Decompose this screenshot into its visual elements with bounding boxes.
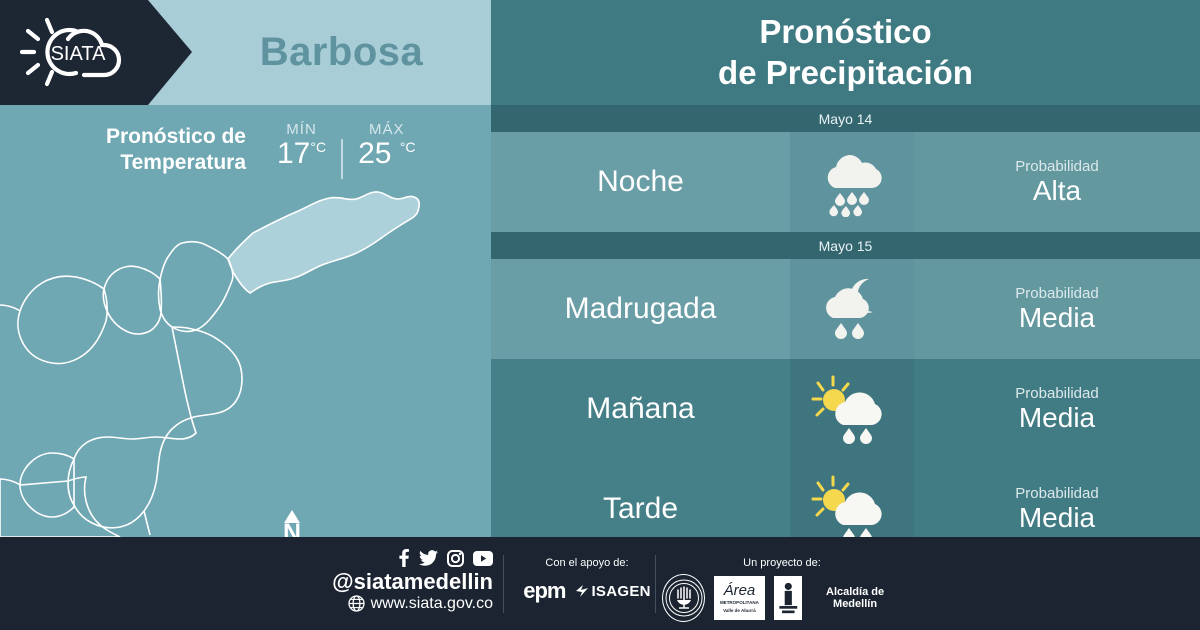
probability-value: Media — [1019, 503, 1095, 532]
area-logo-name: Área — [724, 583, 756, 598]
siata-logo-text: SIATA — [51, 43, 106, 65]
social-icons — [397, 549, 493, 567]
map-region-girardota — [159, 242, 233, 332]
date-band: Mayo 15 — [491, 232, 1200, 259]
moon-cloud-rain-icon — [790, 259, 914, 359]
project-caption: Un proyecto de: — [662, 557, 902, 569]
temperature-max-unit: °C — [400, 139, 416, 155]
twitter-icon[interactable] — [419, 550, 438, 566]
forecast-period: Noche — [491, 132, 790, 232]
temperature-title-line1: Pronóstico de — [0, 124, 246, 150]
temperature-values: MÍN 17°C MÁX 25 °C — [262, 121, 431, 179]
weather-forecast-poster: SIATA Barbosa Pronóstico de Temperatura … — [0, 0, 1200, 630]
facebook-icon[interactable] — [397, 549, 410, 567]
page-title: Barbosa — [192, 0, 491, 105]
temperature-summary: Pronóstico de Temperatura MÍN 17°C MÁX 2… — [0, 105, 491, 195]
area-logo-sub2: Valle de Aburrá — [723, 608, 756, 614]
temperature-title: Pronóstico de Temperatura — [0, 124, 262, 175]
footer: @siatamedellin www.siata.gov.co Con el a… — [0, 537, 1200, 630]
siata-logo-badge: SIATA — [0, 0, 192, 105]
precipitation-title: Pronóstico de Precipitación — [491, 0, 1200, 105]
forecast-row: Madrugada Probabilidad Media — [491, 259, 1200, 359]
rain-cloud-icon — [790, 132, 914, 232]
temperature-min-label: MÍN — [286, 121, 317, 138]
alcaldia-mark-icon — [774, 576, 803, 620]
aburra-valley-map: N — [0, 185, 491, 537]
udea-seal-icon — [662, 574, 705, 622]
footer-divider — [655, 555, 656, 613]
map-region-bello — [18, 276, 107, 363]
temperature-panel: SIATA Barbosa Pronóstico de Temperatura … — [0, 0, 491, 537]
social-handle[interactable]: @siatamedellin — [332, 569, 493, 594]
footer-divider — [503, 555, 504, 613]
sun-cloud-rain-icon — [790, 359, 914, 459]
temperature-min-value: 17°C — [277, 139, 326, 169]
map-region-copacabana — [103, 266, 161, 334]
temperature-max: MÁX 25 °C — [343, 121, 430, 169]
instagram-icon[interactable] — [447, 550, 464, 567]
probability-cell: Probabilidad Media — [914, 259, 1200, 359]
support-block: Con el apoyo de: epm ISAGEN — [512, 557, 662, 604]
probability-value: Media — [1019, 303, 1095, 332]
probability-label: Probabilidad — [1015, 485, 1098, 502]
project-block: Un proyecto de: — [662, 557, 902, 622]
precipitation-panel: Pronóstico de Precipitación Mayo 14 Noch… — [491, 0, 1200, 537]
epm-logo: epm — [523, 578, 565, 604]
map-region-north-edge — [0, 305, 20, 311]
forecast-row: Noche Prob — [491, 132, 1200, 232]
support-logos: epm ISAGEN — [512, 578, 662, 604]
forecast-period: Mañana — [491, 359, 790, 459]
map-region-caldas — [144, 511, 150, 535]
probability-label: Probabilidad — [1015, 385, 1098, 402]
area-logo-sub1: METROPOLITANA — [720, 600, 759, 606]
precipitation-title-line1: Pronóstico — [759, 12, 931, 52]
map-region-medellin — [68, 327, 242, 528]
probability-label: Probabilidad — [1015, 285, 1098, 302]
map-region-envigado — [0, 477, 120, 537]
left-header: SIATA Barbosa — [0, 0, 491, 105]
website-link[interactable]: www.siata.gov.co — [348, 594, 493, 613]
alcaldia-logo: Alcaldía de Medellín — [774, 576, 902, 620]
social-block: @siatamedellin www.siata.gov.co — [318, 549, 493, 613]
temperature-max-label: MÁX — [369, 121, 405, 138]
website-url: www.siata.gov.co — [371, 594, 493, 613]
forecast-period: Madrugada — [491, 259, 790, 359]
probability-label: Probabilidad — [1015, 158, 1098, 175]
temperature-max-value: 25 °C — [358, 139, 415, 169]
project-logos: Área METROPOLITANA Valle de Aburrá — [662, 574, 902, 622]
probability-cell: Probabilidad Alta — [914, 132, 1200, 232]
temperature-min-unit: °C — [310, 139, 326, 155]
youtube-icon[interactable] — [473, 551, 493, 566]
date-band: Mayo 14 — [491, 105, 1200, 132]
precipitation-title-line2: de Precipitación — [718, 53, 973, 93]
isagen-mark-icon — [575, 584, 589, 598]
support-caption: Con el apoyo de: — [512, 557, 662, 569]
forecast-row: Mañana — [491, 359, 1200, 459]
temperature-min: MÍN 17°C — [262, 121, 341, 169]
alcaldia-label: Alcaldía de Medellín — [808, 586, 902, 610]
map-svg — [0, 185, 491, 537]
probability-value: Alta — [1033, 176, 1081, 205]
area-metropolitana-logo: Área METROPOLITANA Valle de Aburrá — [714, 576, 764, 620]
globe-icon — [348, 595, 365, 612]
temperature-title-line2: Temperatura — [0, 150, 246, 176]
temperature-divider — [341, 139, 343, 179]
isagen-logo: ISAGEN — [575, 583, 650, 600]
map-region-barbosa — [228, 192, 419, 293]
sun-cloud-icon: SIATA — [14, 12, 142, 92]
probability-value: Media — [1019, 403, 1095, 432]
probability-cell: Probabilidad Media — [914, 359, 1200, 459]
isagen-text: ISAGEN — [591, 583, 650, 600]
